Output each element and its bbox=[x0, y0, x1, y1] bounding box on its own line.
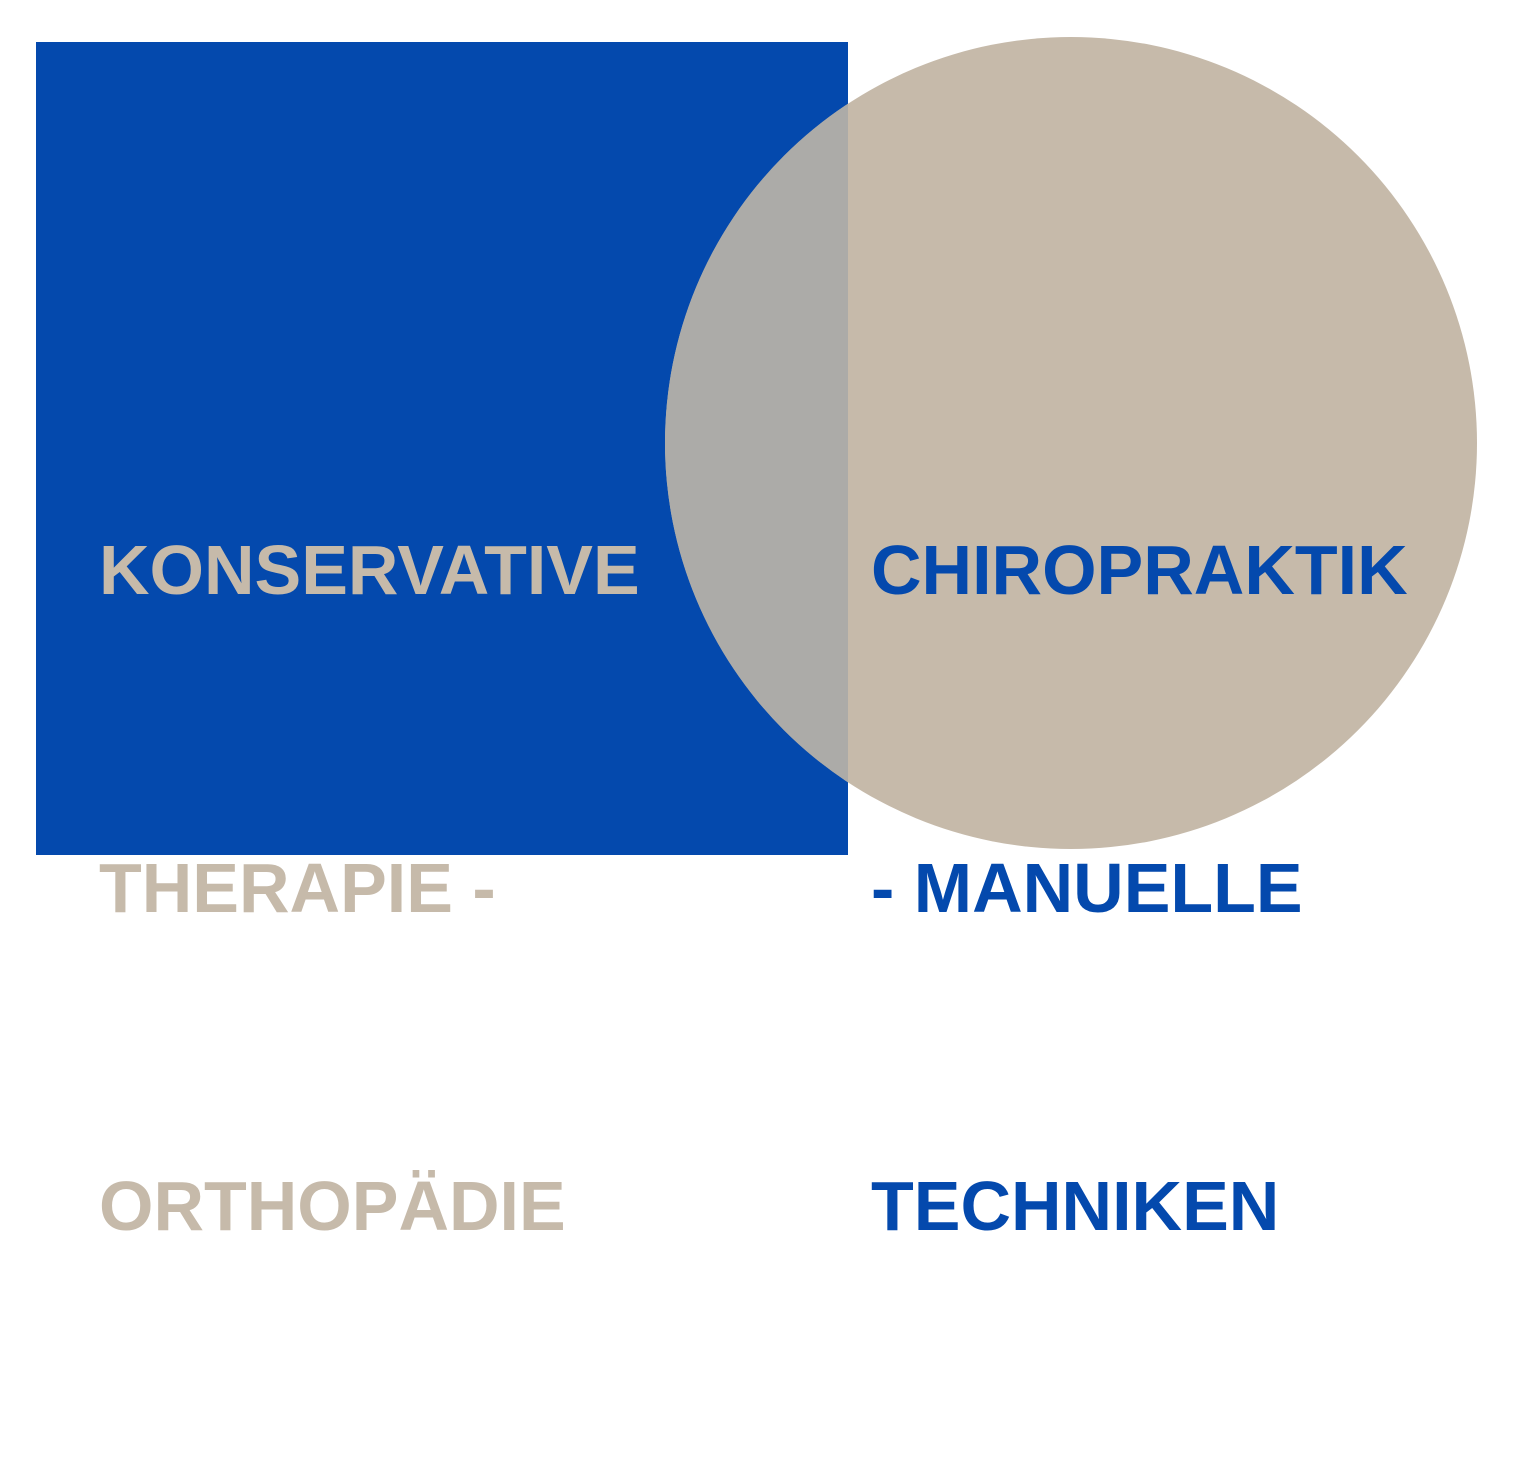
left-set-label-line-3: ORTHOPÄDIE bbox=[99, 1153, 640, 1259]
venn-diagram-shapes bbox=[0, 0, 1533, 926]
right-set-label-line-3: TECHNIKEN bbox=[871, 1153, 1408, 1259]
diagram-canvas: KONSERVATIVE THERAPIE - ORTHOPÄDIE CHIRO… bbox=[0, 0, 1533, 926]
